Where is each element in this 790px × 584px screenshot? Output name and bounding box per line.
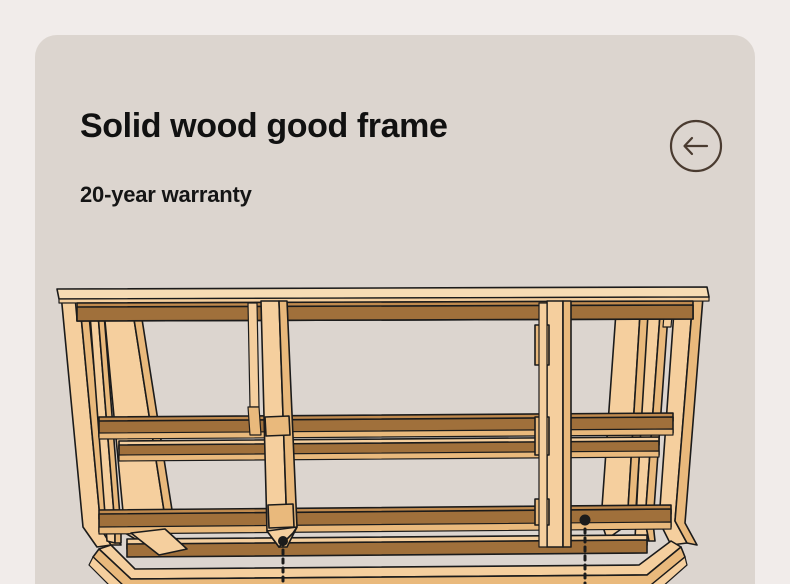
product-feature-card: .ol { stroke:#1B1B1B; stroke-width:1.6; … (35, 35, 755, 584)
arrow-left-circle-icon (668, 118, 724, 174)
callout-left-line (278, 536, 288, 584)
page-subtitle: 20-year warranty (80, 145, 640, 206)
page-title: Solid wood good frame (80, 109, 640, 145)
page-root: .ol { stroke:#1B1B1B; stroke-width:1.6; … (0, 0, 790, 584)
heading-group: Solid wood good frame 20-year warranty (80, 109, 640, 206)
back-button[interactable] (668, 118, 724, 174)
callout-right-line (580, 515, 591, 584)
